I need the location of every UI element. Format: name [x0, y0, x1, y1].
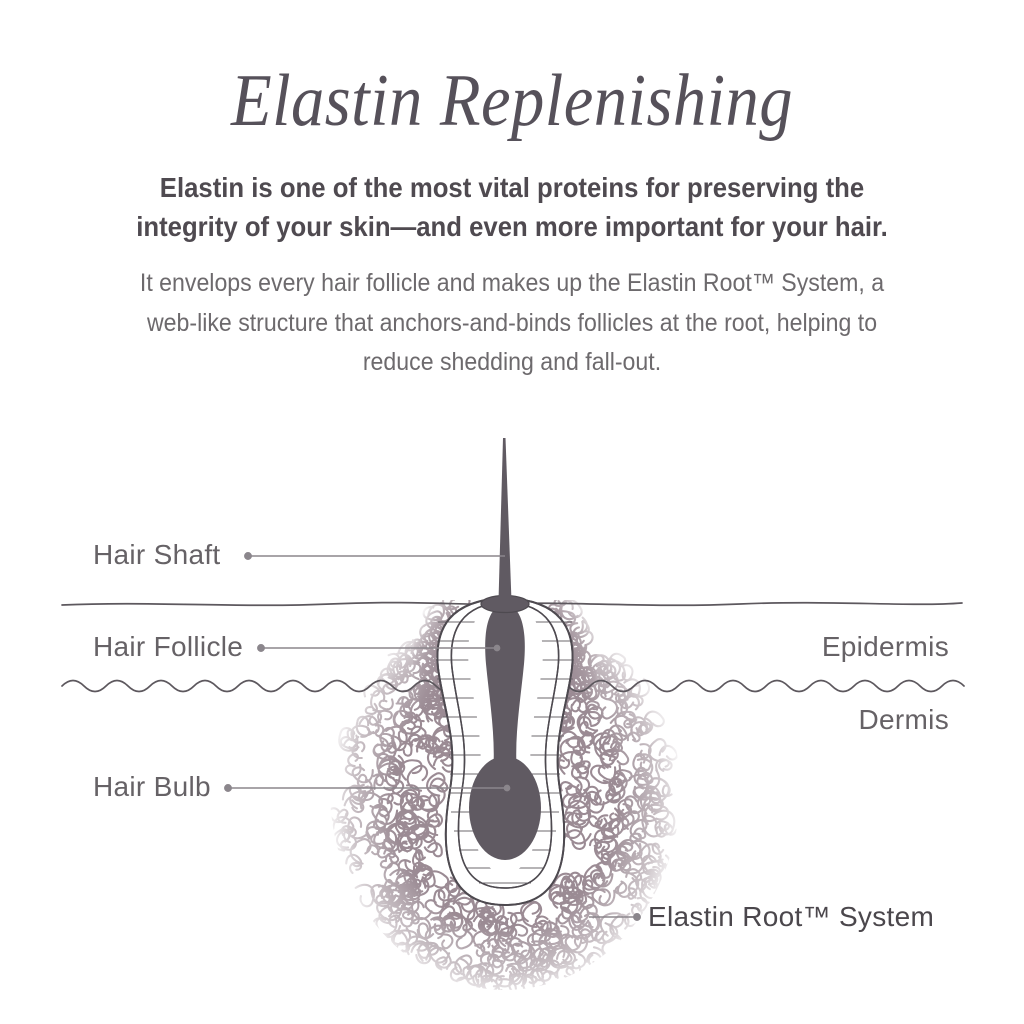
hair-follicle-diagram	[0, 0, 1024, 1024]
leader-endpoint-hair-bulb	[504, 785, 509, 790]
leader-dot-hair-follicle	[258, 645, 264, 651]
leader-dot-hair-bulb	[225, 785, 231, 791]
infographic-canvas: Elastin Replenishing Elastin is one of t…	[0, 0, 1024, 1024]
leader-dot-hair-shaft	[245, 553, 251, 559]
hair-shaft-external	[499, 438, 512, 601]
leader-endpoint-hair-follicle	[494, 645, 499, 650]
label-hair-follicle: Hair Follicle	[93, 631, 243, 663]
hair-shaft-inner	[496, 604, 514, 700]
label-hair-shaft: Hair Shaft	[93, 539, 221, 571]
leader-dot-elastin-root	[634, 914, 640, 920]
label-dermis: Dermis	[859, 704, 949, 736]
hair-bulb-swell	[469, 756, 541, 860]
label-elastin-root-system: Elastin Root™ System	[648, 901, 934, 933]
hair-follicle-structure	[436, 438, 574, 905]
label-epidermis: Epidermis	[822, 631, 949, 663]
label-hair-bulb: Hair Bulb	[93, 771, 211, 803]
